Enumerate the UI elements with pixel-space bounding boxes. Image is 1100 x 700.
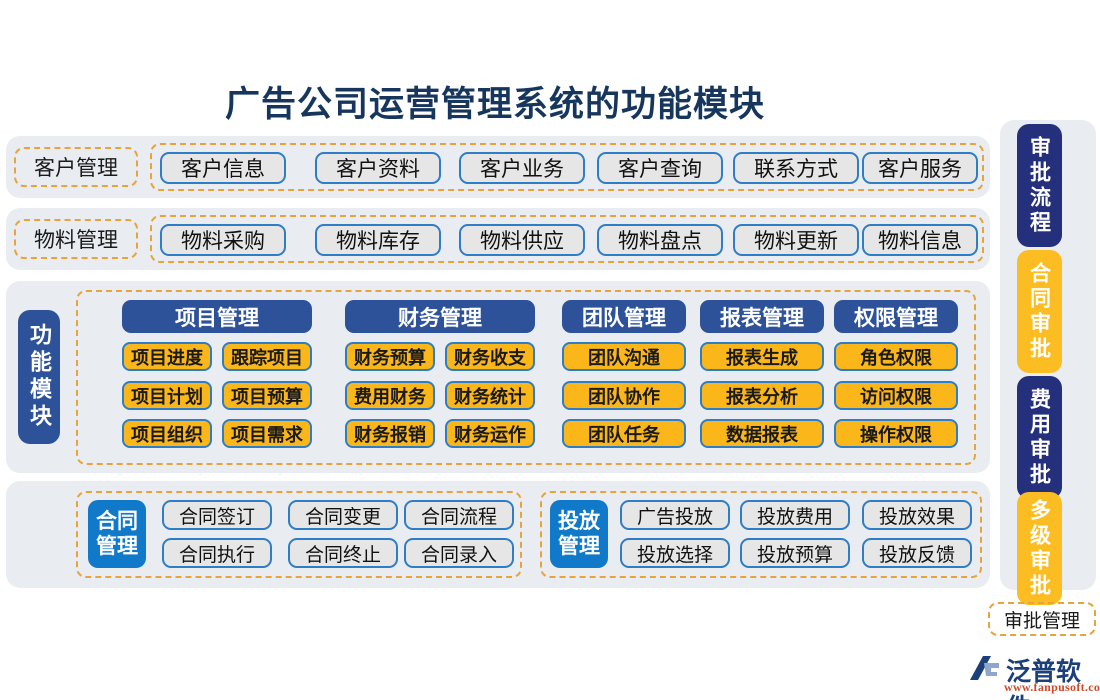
btn-finance-operation[interactable]: 财务运作 (445, 419, 535, 448)
btn-finance-reimburse[interactable]: 财务报销 (345, 419, 435, 448)
btn-contract-execute[interactable]: 合同执行 (162, 538, 272, 568)
sidebar-chip-expense-approval[interactable]: 费用审批 (1017, 376, 1062, 499)
btn-customer-query[interactable]: 客户查询 (597, 152, 723, 184)
btn-delivery-selection[interactable]: 投放选择 (620, 538, 730, 568)
btn-customer-business[interactable]: 客户业务 (459, 152, 585, 184)
module-header-finance: 财务管理 (345, 300, 535, 333)
btn-team-communication[interactable]: 团队沟通 (562, 342, 686, 371)
btn-customer-info[interactable]: 客户信息 (160, 152, 286, 184)
btn-permission-operate[interactable]: 操作权限 (834, 419, 958, 448)
page-title: 广告公司运营管理系统的功能模块 (0, 76, 990, 127)
sidebar-chip-approval-process[interactable]: 审批流程 (1017, 124, 1062, 247)
btn-contract-entry[interactable]: 合同录入 (404, 538, 514, 568)
btn-project-plan[interactable]: 项目计划 (122, 381, 212, 410)
module-header-report: 报表管理 (700, 300, 824, 333)
btn-project-org[interactable]: 项目组织 (122, 419, 212, 448)
btn-material-update[interactable]: 物料更新 (733, 224, 859, 256)
contract-label-line2: 管理 (96, 534, 138, 559)
btn-customer-contact[interactable]: 联系方式 (733, 152, 859, 184)
delivery-label: 投放 管理 (550, 500, 608, 568)
btn-material-info[interactable]: 物料信息 (862, 224, 978, 256)
btn-contract-terminate[interactable]: 合同终止 (288, 538, 398, 568)
group-label-customer: 客户管理 (14, 147, 138, 187)
group-label-customer-text: 客户管理 (34, 152, 118, 182)
btn-permission-role[interactable]: 角色权限 (834, 342, 958, 371)
btn-material-inventory[interactable]: 物料盘点 (597, 224, 723, 256)
sidebar-footer-label-text: 审批管理 (1004, 606, 1080, 633)
btn-material-stock[interactable]: 物料库存 (315, 224, 441, 256)
btn-customer-service[interactable]: 客户服务 (862, 152, 978, 184)
group-label-material: 物料管理 (14, 219, 138, 259)
delivery-label-line1: 投放 (558, 509, 600, 534)
btn-project-demand[interactable]: 项目需求 (222, 419, 312, 448)
btn-delivery-feedback[interactable]: 投放反馈 (862, 538, 972, 568)
btn-contract-sign[interactable]: 合同签订 (162, 500, 272, 530)
btn-project-progress[interactable]: 项目进度 (122, 342, 212, 371)
btn-project-budget[interactable]: 项目预算 (222, 381, 312, 410)
contract-label: 合同 管理 (88, 500, 146, 568)
btn-material-supply[interactable]: 物料供应 (459, 224, 585, 256)
sidebar-chip-multilevel-approval[interactable]: 多级审批 (1017, 492, 1062, 605)
brand-logo: 泛普软件 www.fanpusoft.com (962, 652, 1100, 698)
group-label-material-text: 物料管理 (34, 224, 118, 254)
delivery-label-line2: 管理 (558, 534, 600, 559)
btn-contract-change[interactable]: 合同变更 (288, 500, 398, 530)
sidebar-footer-label: 审批管理 (988, 602, 1096, 636)
btn-material-purchase[interactable]: 物料采购 (160, 224, 286, 256)
btn-team-task[interactable]: 团队任务 (562, 419, 686, 448)
btn-finance-stats[interactable]: 财务统计 (445, 381, 535, 410)
btn-team-collaboration[interactable]: 团队协作 (562, 381, 686, 410)
module-header-permission: 权限管理 (834, 300, 958, 333)
btn-finance-cost[interactable]: 费用财务 (345, 381, 435, 410)
btn-report-data[interactable]: 数据报表 (700, 419, 824, 448)
fanpu-logo-mark (968, 654, 1002, 682)
contract-label-line1: 合同 (96, 509, 138, 534)
btn-delivery-effect[interactable]: 投放效果 (862, 500, 972, 530)
module-header-team: 团队管理 (562, 300, 686, 333)
sidebar-chip-contract-approval[interactable]: 合同审批 (1017, 250, 1062, 373)
btn-ad-delivery[interactable]: 广告投放 (620, 500, 730, 530)
btn-contract-process[interactable]: 合同流程 (404, 500, 514, 530)
module-header-project: 项目管理 (122, 300, 312, 333)
btn-permission-access[interactable]: 访问权限 (834, 381, 958, 410)
btn-finance-income[interactable]: 财务收支 (445, 342, 535, 371)
btn-customer-data[interactable]: 客户资料 (315, 152, 441, 184)
btn-finance-budget[interactable]: 财务预算 (345, 342, 435, 371)
btn-project-track[interactable]: 跟踪项目 (222, 342, 312, 371)
diagram-canvas: 广告公司运营管理系统的功能模块 客户管理 客户信息 客户资料 客户业务 客户查询… (0, 0, 1100, 700)
btn-delivery-cost[interactable]: 投放费用 (740, 500, 850, 530)
btn-delivery-budget[interactable]: 投放预算 (740, 538, 850, 568)
btn-report-generate[interactable]: 报表生成 (700, 342, 824, 371)
btn-report-analysis[interactable]: 报表分析 (700, 381, 824, 410)
function-module-label: 功能模块 (18, 310, 60, 444)
logo-url: www.fanpusoft.com (1004, 680, 1100, 695)
